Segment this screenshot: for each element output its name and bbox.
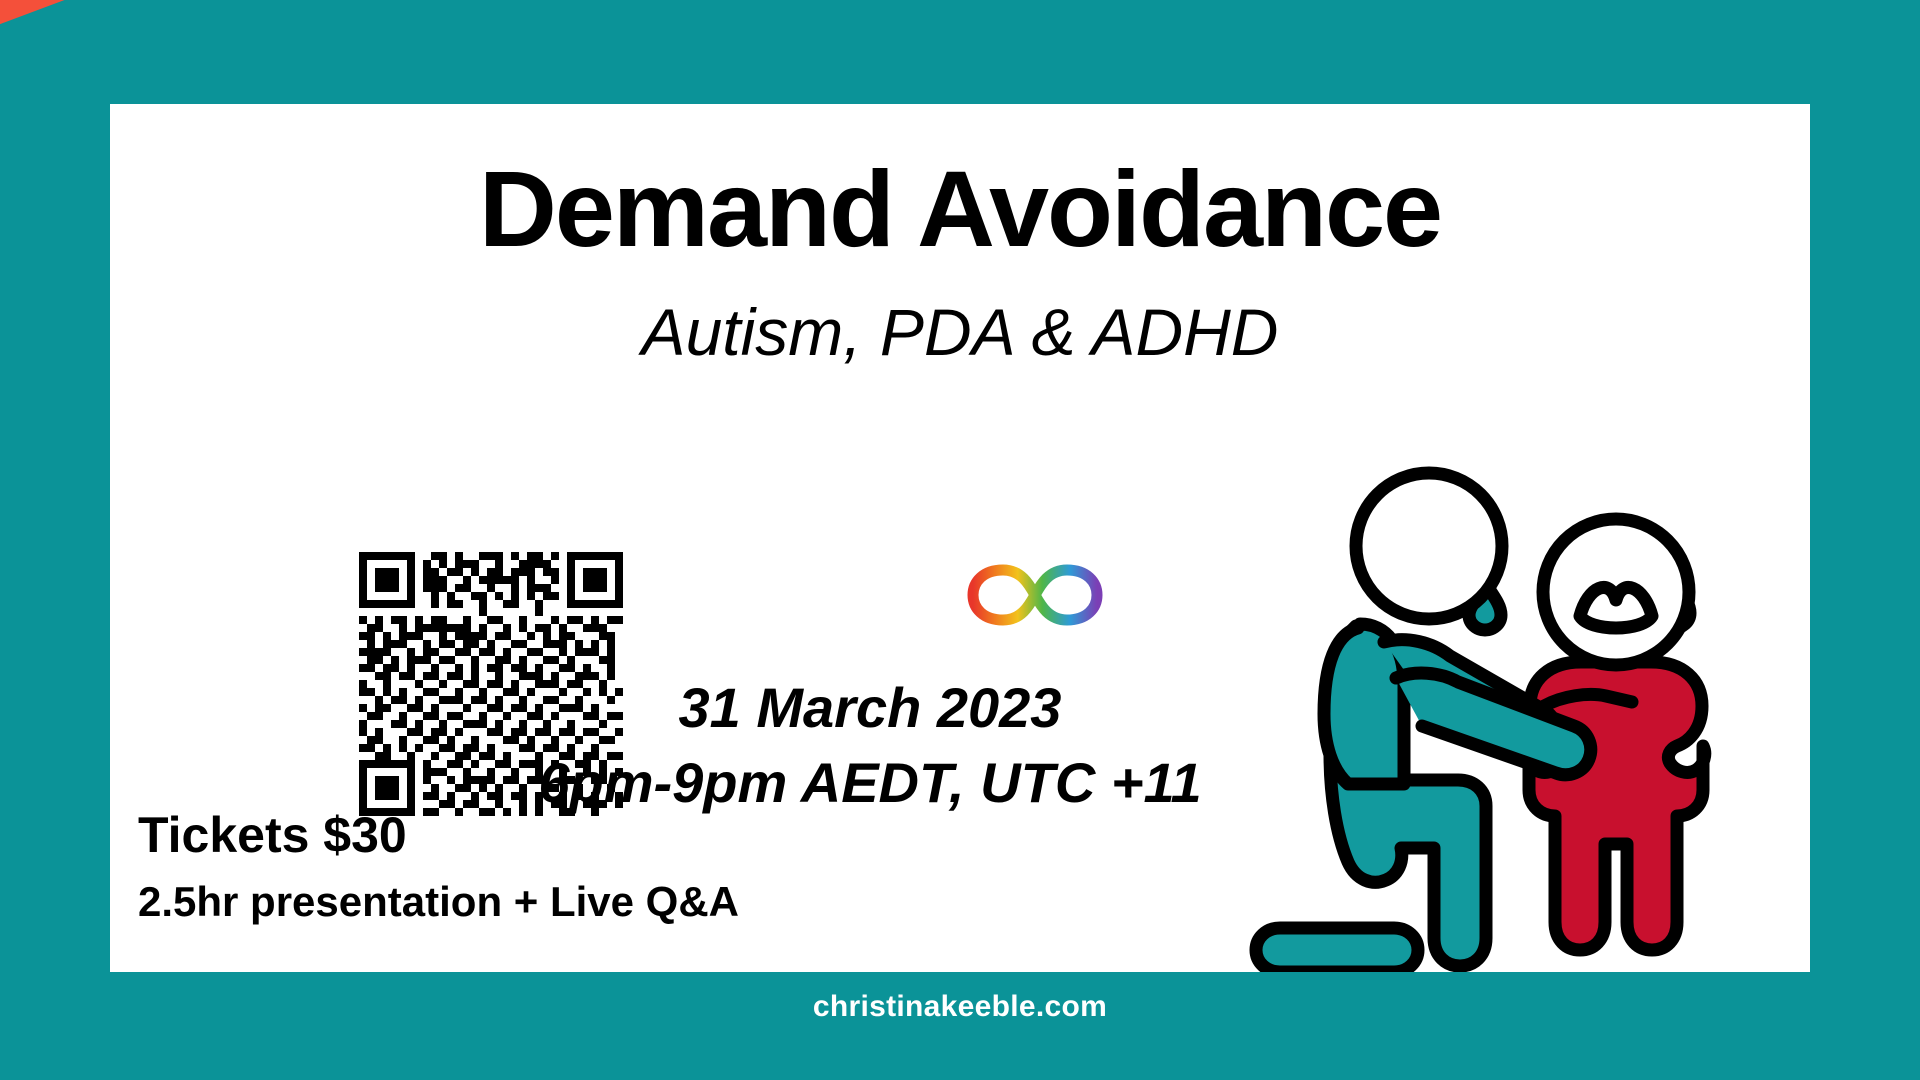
adult-comforting-child-illustration xyxy=(1244,434,1810,972)
ticket-info: Tickets $30 2.5hr presentation + Live Q&… xyxy=(138,804,739,929)
page-subtitle: Autism, PDA & ADHD xyxy=(110,296,1810,369)
event-datetime: 31 March 2023 6pm-9pm AEDT, UTC +11 xyxy=(350,670,1390,820)
event-poster: Demand Avoidance Autism, PDA & ADHD xyxy=(0,0,1920,1080)
ticket-detail: 2.5hr presentation + Live Q&A xyxy=(138,875,739,930)
rainbow-infinity-glyph xyxy=(965,556,1105,634)
poster-card: Demand Avoidance Autism, PDA & ADHD xyxy=(110,104,1810,972)
rainbow-infinity-icon xyxy=(965,556,1105,634)
page-title: Demand Avoidance xyxy=(110,152,1810,265)
event-date: 31 March 2023 xyxy=(350,670,1390,745)
illustration-graphic xyxy=(1244,434,1810,972)
footer-website[interactable]: christinakeeble.com xyxy=(0,990,1920,1024)
ticket-price: Tickets $30 xyxy=(138,804,739,867)
